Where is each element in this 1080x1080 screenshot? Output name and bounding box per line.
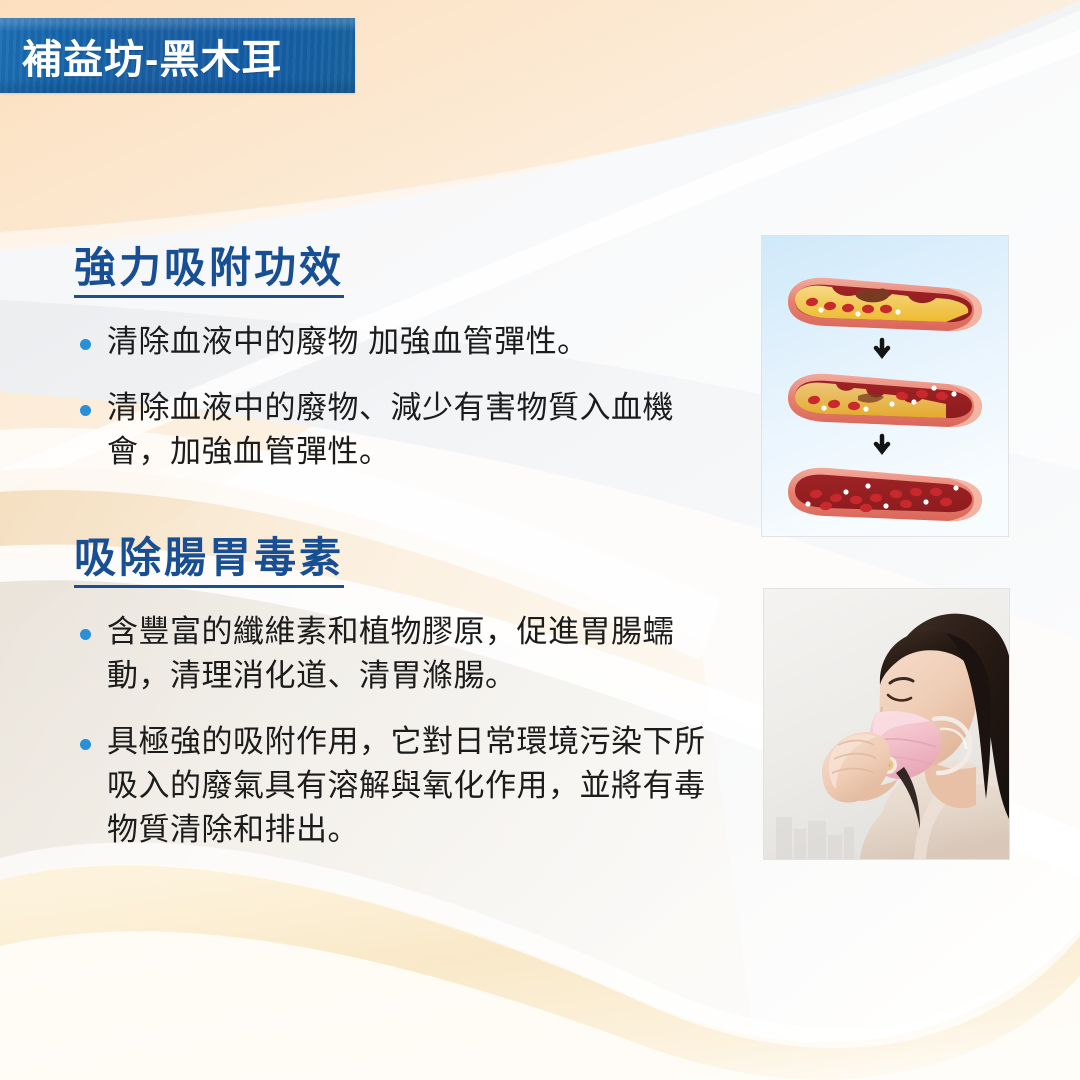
bullet-text: 含豐富的纖維素和植物膠原，促進胃腸蠕動，清理消化道、清胃滌腸。 xyxy=(107,614,674,693)
list-item: 清除血液中的廢物 加強血管彈性。 xyxy=(74,320,734,364)
bullet-text: 具極強的吸附作用，它對日常環境污染下所吸入的廢氣具有溶解與氧化作用，並將有毒物質… xyxy=(107,724,706,847)
bullet-dot-icon xyxy=(80,339,91,350)
bullet-list-1: 清除血液中的廢物 加強血管彈性。 清除血液中的廢物、減少有害物質入血機會，加強血… xyxy=(74,320,734,474)
section-title-2: 吸除腸胃毒素 xyxy=(74,534,344,588)
mask-photo-svg xyxy=(764,589,1009,859)
bullet-text: 清除血液中的廢物、減少有害物質入血機會，加強血管彈性。 xyxy=(107,390,674,469)
section-title-1: 強力吸附功效 xyxy=(74,244,344,298)
list-item: 清除血液中的廢物、減少有害物質入血機會，加強血管彈性。 xyxy=(74,386,734,474)
section-strong-adsorption: 強力吸附功效 清除血液中的廢物 加強血管彈性。 清除血液中的廢物、減少有害物質入… xyxy=(74,244,734,474)
bullet-dot-icon xyxy=(80,739,91,750)
vessel-diagram-svg xyxy=(762,236,1008,536)
promo-poster: 補益坊-黑木耳 強力吸附功效 清除血液中的廢物 加強血管彈性。 清除血液中的廢物… xyxy=(0,0,1080,1080)
content-area: 強力吸附功效 清除血液中的廢物 加強血管彈性。 清除血液中的廢物、減少有害物質入… xyxy=(0,0,1080,1080)
bullet-list-2: 含豐富的纖維素和植物膠原，促進胃腸蠕動，清理消化道、清胃滌腸。 具極強的吸附作用… xyxy=(74,610,734,852)
bullet-dot-icon xyxy=(80,405,91,416)
woman-wearing-face-mask-photo xyxy=(763,588,1010,860)
blood-vessel-plaque-illustration xyxy=(761,235,1009,537)
list-item: 具極強的吸附作用，它對日常環境污染下所吸入的廢氣具有溶解與氧化作用，並將有毒物質… xyxy=(74,720,734,852)
bullet-dot-icon xyxy=(80,629,91,640)
list-item: 含豐富的纖維素和植物膠原，促進胃腸蠕動，清理消化道、清胃滌腸。 xyxy=(74,610,734,698)
brand-title: 補益坊-黑木耳 xyxy=(22,27,282,85)
bullet-text: 清除血液中的廢物 加強血管彈性。 xyxy=(107,324,589,359)
section-gut-detox: 吸除腸胃毒素 含豐富的纖維素和植物膠原，促進胃腸蠕動，清理消化道、清胃滌腸。 具… xyxy=(74,534,734,852)
